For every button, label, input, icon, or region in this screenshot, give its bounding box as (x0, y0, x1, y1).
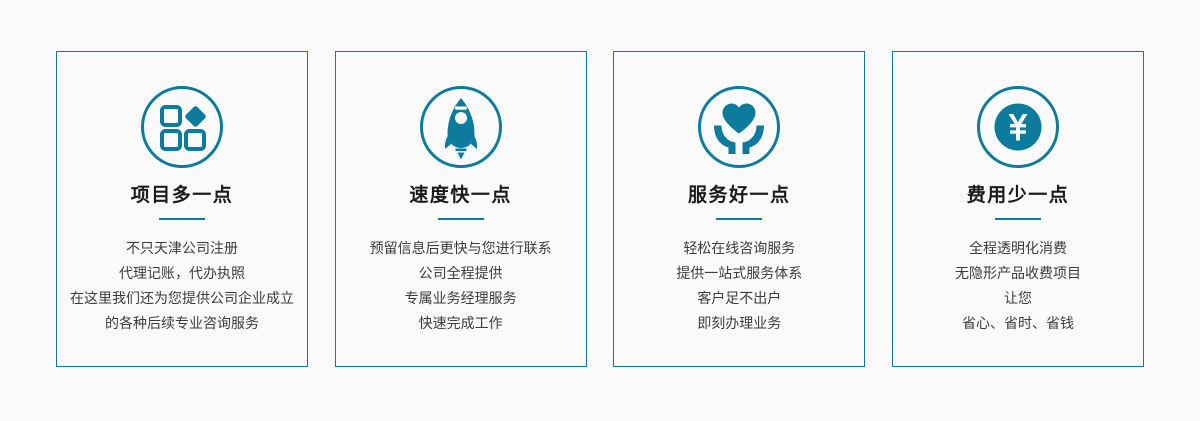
feature-card-speed[interactable]: 速度快一点 预留信息后更快与您进行联系 公司全程提供 专属业务经理服务 快速完成… (335, 51, 587, 367)
heart-in-hands-icon (697, 85, 781, 169)
body-line: 快速完成工作 (345, 311, 577, 336)
body-line: 即刻办理业务 (623, 311, 855, 336)
feature-card-cost[interactable]: 费用少一点 全程透明化消费 无隐形产品收费项目 让您 省心、省时、省钱 (892, 51, 1144, 367)
card-body: 不只天津公司注册 代理记账，代办执照 在这里我们还为您提供公司企业成立 的各种后… (66, 236, 298, 336)
body-line: 提供一站式服务体系 (623, 261, 855, 286)
card-divider (716, 218, 762, 220)
card-body: 全程透明化消费 无隐形产品收费项目 让您 省心、省时、省钱 (902, 236, 1134, 336)
yen-coin-icon (976, 85, 1060, 169)
body-line: 代理记账，代办执照 (66, 261, 298, 286)
body-line: 公司全程提供 (345, 261, 577, 286)
card-title: 速度快一点 (409, 185, 512, 208)
body-line: 的各种后续专业咨询服务 (66, 311, 298, 336)
rocket-icon (419, 85, 503, 169)
features-section: 项目多一点 不只天津公司注册 代理记账，代办执照 在这里我们还为您提供公司企业成… (0, 0, 1200, 421)
body-line: 省心、省时、省钱 (902, 311, 1134, 336)
body-line: 轻松在线咨询服务 (623, 236, 855, 261)
card-body: 预留信息后更快与您进行联系 公司全程提供 专属业务经理服务 快速完成工作 (345, 236, 577, 336)
body-line: 全程透明化消费 (902, 236, 1134, 261)
body-line: 客户足不出户 (623, 286, 855, 311)
grid-shapes-icon (140, 85, 224, 169)
card-title: 费用少一点 (967, 185, 1070, 208)
card-title: 服务好一点 (688, 185, 791, 208)
body-line: 无隐形产品收费项目 (902, 261, 1134, 286)
card-divider (159, 218, 205, 220)
card-divider (438, 218, 484, 220)
feature-card-service[interactable]: 服务好一点 轻松在线咨询服务 提供一站式服务体系 客户足不出户 即刻办理业务 (613, 51, 865, 367)
body-line: 在这里我们还为您提供公司企业成立 (66, 286, 298, 311)
card-divider (995, 218, 1041, 220)
body-line: 不只天津公司注册 (66, 236, 298, 261)
body-line: 预留信息后更快与您进行联系 (345, 236, 577, 261)
card-body: 轻松在线咨询服务 提供一站式服务体系 客户足不出户 即刻办理业务 (623, 236, 855, 336)
feature-card-projects[interactable]: 项目多一点 不只天津公司注册 代理记账，代办执照 在这里我们还为您提供公司企业成… (56, 51, 308, 367)
body-line: 让您 (902, 286, 1134, 311)
body-line: 专属业务经理服务 (345, 286, 577, 311)
feature-cards-row: 项目多一点 不只天津公司注册 代理记账，代办执照 在这里我们还为您提供公司企业成… (56, 51, 1144, 367)
card-title: 项目多一点 (131, 185, 234, 208)
